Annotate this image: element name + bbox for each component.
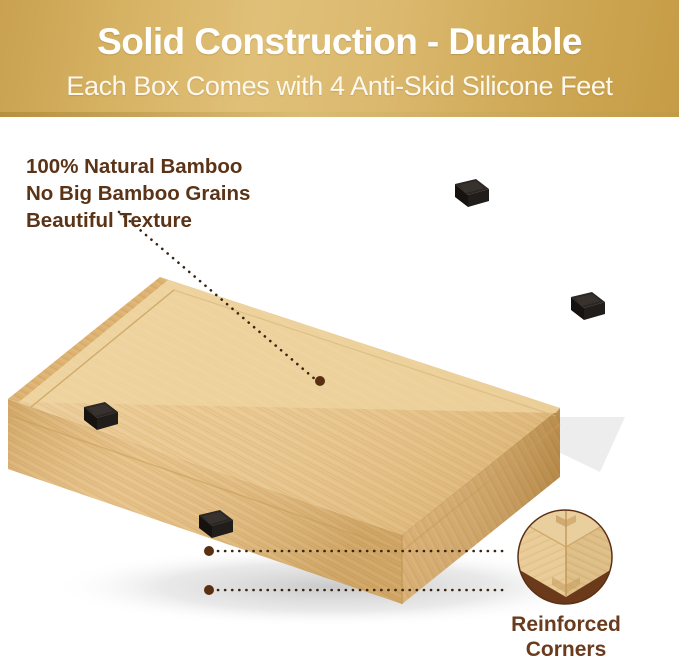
material-callout-line-2: No Big Bamboo Grains [26,180,250,207]
material-callout-line-1: 100% Natural Bamboo [26,153,250,180]
header-banner: Solid Construction - Durable Each Box Co… [0,0,679,117]
silicone-foot-top [455,179,489,207]
reinforced-corners-callout: Reinforced Corners [478,612,654,662]
banner-subtitle: Each Box Comes with 4 Anti-Skid Silicone… [0,70,679,102]
reinforced-corners-line-1: Reinforced [478,612,654,637]
corner-detail-inset [518,493,612,604]
material-callout: 100% Natural Bamboo No Big Bamboo Grains… [26,153,250,234]
banner-title: Solid Construction - Durable [0,21,679,63]
box-lid-rim [8,277,560,416]
silicone-foot-right [571,292,605,320]
material-callout-line-3: Beautiful Texture [26,207,250,234]
reinforced-corners-line-2: Corners [478,637,654,662]
infographic-canvas: Solid Construction - Durable Each Box Co… [0,0,679,662]
